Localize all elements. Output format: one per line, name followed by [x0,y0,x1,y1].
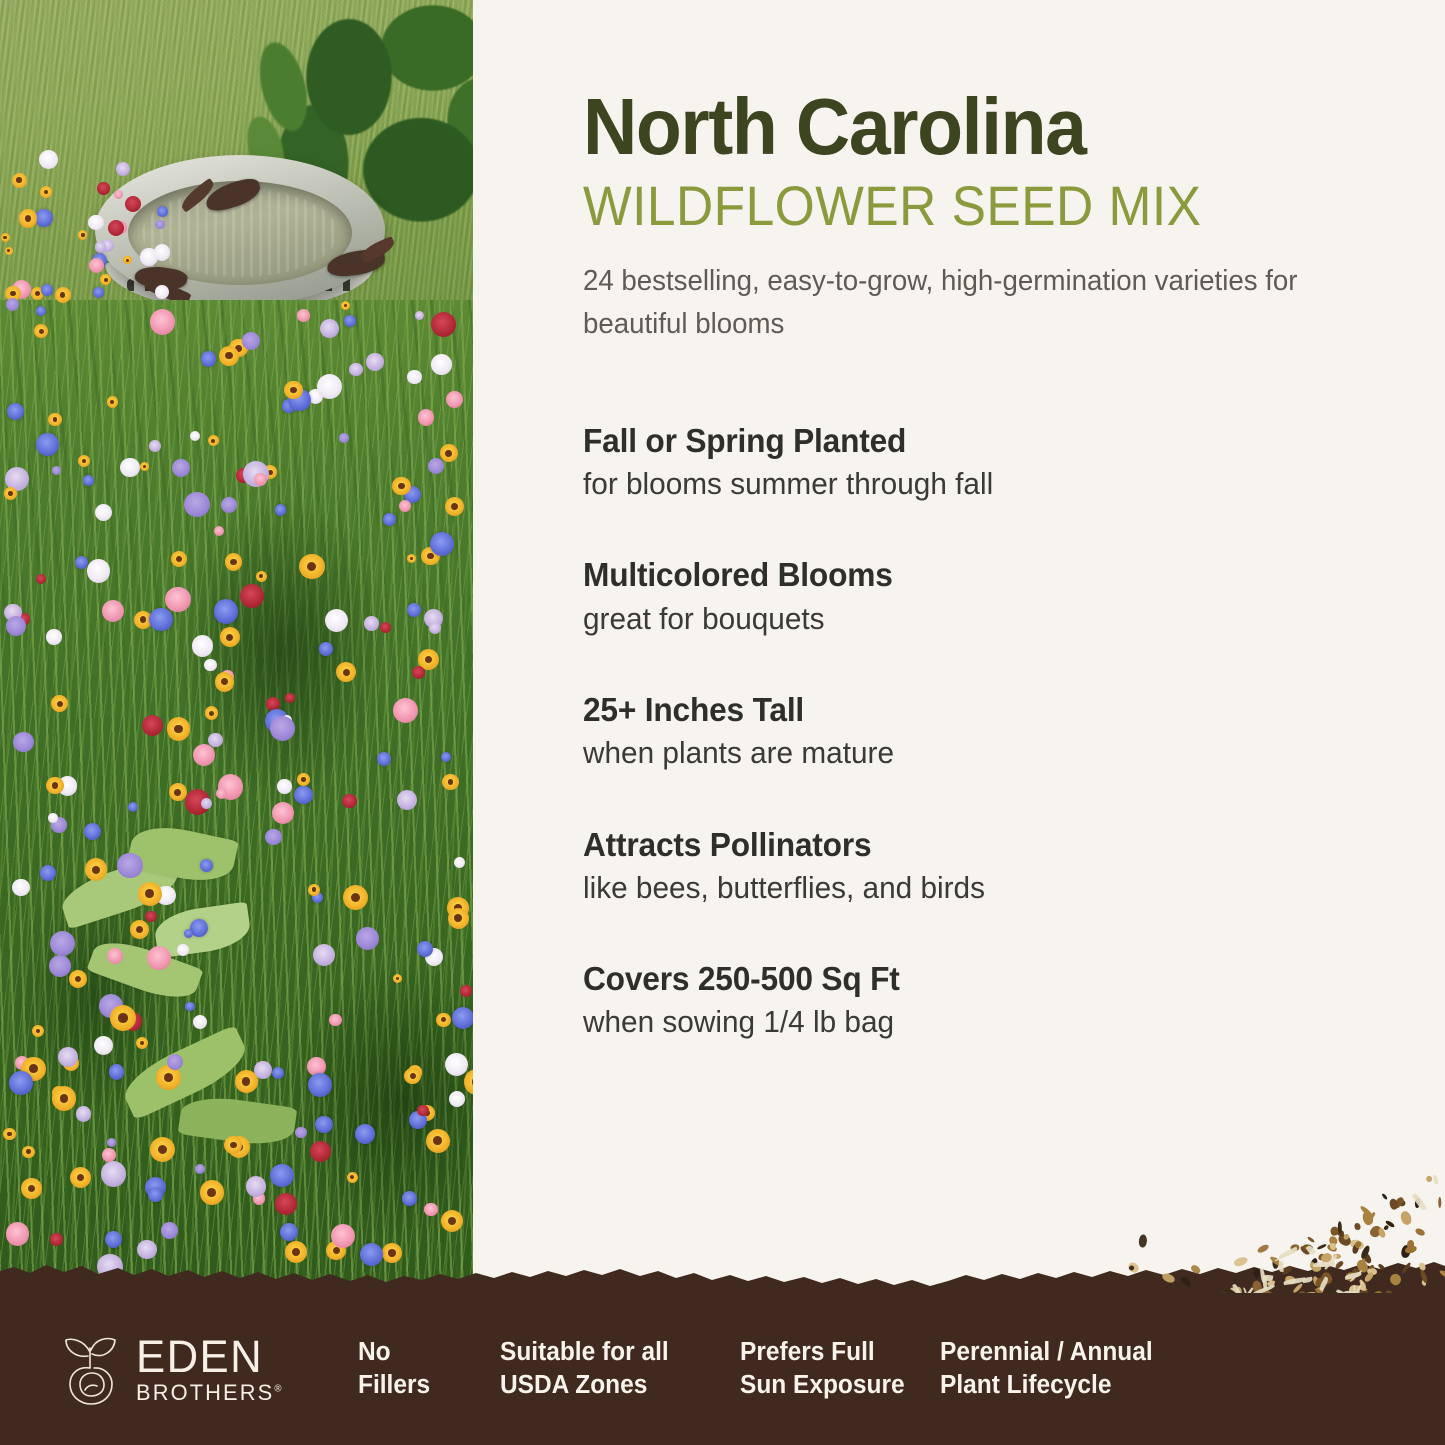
flower-bloom [5,247,13,255]
flower-bloom [84,823,101,840]
flower-bloom [22,1146,34,1158]
flower-bloom [201,351,217,367]
flower-bloom [50,1233,63,1246]
page-subtitle: WILDFLOWER SEED MIX [583,178,1289,234]
flower-bloom [138,1272,160,1294]
flower-bloom [393,974,402,983]
flower-bloom [138,882,162,906]
product-description: 24 bestselling, easy-to-grow, high-germi… [583,260,1320,346]
flower-bloom [448,908,469,929]
flower-bloom [275,504,286,515]
flower-bloom [284,381,303,400]
flower-bloom [155,220,164,229]
sprout-seedling-icon [58,1330,122,1408]
flower-bloom [172,459,190,477]
flower-bloom [85,858,108,881]
eden-brothers-logo[interactable]: EDEN BROTHERS® [58,1330,358,1408]
flower-bloom [114,190,123,199]
flower-bloom [46,629,62,645]
flower-bloom [297,773,310,786]
flower-bloom [349,363,363,377]
flower-bloom [280,1223,298,1241]
flower-bloom [429,622,441,634]
flower-bloom [366,353,384,371]
flower-bloom [165,587,190,612]
flower-bloom [242,332,260,350]
feature-heading: Multicolored Blooms [583,554,1319,595]
flower-bloom [40,865,56,881]
content-panel: North Carolina WILDFLOWER SEED MIX 24 be… [473,0,1445,1445]
flower-bloom [442,774,458,790]
flower-bloom [339,433,349,443]
flower-bloom [149,608,172,631]
flower-bloom [270,716,295,741]
badge-no-fillers: No Fillers [358,1336,494,1401]
flower-bloom [157,206,168,217]
flower-bloom [341,301,350,310]
feature-item: 25+ Inches Tall when plants are mature [583,689,1350,774]
flower-bloom [108,220,124,236]
flower-bloom [285,693,294,702]
flower-bloom [431,354,452,375]
flower-bloom [325,609,348,632]
flower-bloom [343,885,368,910]
flower-bloom [52,1086,77,1111]
flower-bloom [285,1241,307,1263]
flower-bloom [55,287,71,303]
badge-sun-exposure: Prefers Full Sun Exposure [740,1336,932,1401]
flower-bloom [192,635,214,657]
page-title: North Carolina [583,88,1304,166]
feature-item: Covers 250-500 Sq Ft when sowing 1/4 lb … [583,958,1350,1043]
feature-subtext: when sowing 1/4 lb bag [583,1002,1319,1042]
flower-bloom [319,642,333,656]
flower-bloom [101,1161,126,1186]
flower-bloom [58,1047,78,1067]
flower-bloom [154,244,171,261]
badge-plant-lifecycle: Perennial / Annual Plant Lifecycle [940,1336,1209,1401]
flower-bloom [150,1137,176,1163]
flower-bloom [4,487,17,500]
flower-bloom [270,1164,293,1187]
flower-bloom [215,672,235,692]
flower-bloom [208,733,222,747]
flower-bloom [308,884,320,896]
flower-bloom [407,603,421,617]
flower-bloom [97,182,110,195]
flower-bloom [342,794,357,809]
wildflower-meadow-photo [0,0,473,1300]
feature-heading: Fall or Spring Planted [583,420,1319,461]
feature-item: Attracts Pollinators like bees, butterfl… [583,824,1350,909]
feature-subtext: for blooms summer through fall [583,464,1319,504]
flower-bloom [393,698,418,723]
flower-bloom [107,396,119,408]
flower-bloom [254,1061,272,1079]
flower-bloom [185,1002,194,1011]
flower-bloom [277,779,291,793]
flower-bloom [167,717,190,740]
flower-bloom [355,1124,375,1144]
flower-bloom [3,1128,16,1141]
flower-bloom [69,970,87,988]
flower-bloom [315,1116,333,1134]
flower-bloom [205,706,219,720]
footer-badges: No Fillers Suitable for all USDA Zones P… [358,1336,1445,1401]
flower-bloom [417,941,433,957]
flower-bloom [40,186,52,198]
flower-bloom [48,813,58,823]
flower-bloom [1,233,10,242]
flower-bloom [216,788,227,799]
flower-bloom [35,209,53,227]
flower-bloom [7,403,24,420]
feature-list: Fall or Spring Planted for blooms summer… [583,420,1350,1043]
flower-bloom [344,315,356,327]
flower-bloom [105,1231,122,1248]
flower-bloom [120,458,140,478]
flower-bloom [214,599,239,624]
logo-wordmark: EDEN BROTHERS® [136,1334,286,1405]
flower-bloom [36,306,46,316]
flower-bloom [9,1071,33,1095]
flower-bloom [46,777,64,795]
logo-line-brothers: BROTHERS® [136,1382,282,1405]
flower-bloom [97,1254,122,1279]
flower-bloom [19,209,38,228]
flower-bloom [430,532,454,556]
flower-bloom [193,1015,207,1029]
flower-bloom [246,1176,267,1197]
flower-bloom [102,1148,116,1162]
flower-bloom [117,853,143,879]
flower-bloom [454,857,465,868]
flower-bloom [308,1073,332,1097]
flower-bloom [295,1127,307,1139]
flower-bloom [48,413,62,427]
flower-bloom [21,1178,41,1198]
flower-bloom [95,504,112,521]
flower-bloom [13,732,34,753]
flower-bloom [78,230,87,239]
flower-bloom [297,309,310,322]
flower-bloom [142,715,163,736]
logo-line-eden: EDEN [136,1334,282,1379]
feature-heading: 25+ Inches Tall [583,689,1319,730]
flower-bloom [399,500,411,512]
flower-bloom [452,1007,473,1030]
flower-bloom [102,600,124,622]
flower-bloom [109,1064,125,1080]
flower-bloom [161,1222,178,1239]
flower-bloom [331,1224,355,1248]
flower-bloom [70,1167,91,1188]
feature-heading: Covers 250-500 Sq Ft [583,958,1319,999]
flower-bloom [460,985,472,997]
flower-bloom [265,829,282,846]
flower-bloom [313,944,335,966]
flower-bloom [6,1222,29,1245]
flower-bloom [184,492,210,518]
flower-bloom [424,1203,437,1216]
flower-bloom [32,1025,44,1037]
flower-bloom [445,497,464,516]
product-infographic-card: North Carolina WILDFLOWER SEED MIX 24 be… [0,0,1445,1445]
flower-bloom [299,554,325,580]
badge-usda-zones: Suitable for all USDA Zones [500,1336,730,1401]
flower-bloom [125,196,141,212]
flower-bloom [294,786,312,804]
flower-bloom [95,241,107,253]
feature-heading: Attracts Pollinators [583,824,1319,865]
feature-subtext: when plants are mature [583,733,1319,773]
flower-bloom [148,1188,163,1203]
flower-bloom [256,571,268,583]
flower-bloom [446,391,463,408]
flower-bloom [402,1191,417,1206]
flower-bloom [200,1180,224,1204]
flower-bloom [347,1172,358,1183]
flower-bloom [364,616,379,631]
flower-bloom [12,879,30,897]
flower-bloom [272,1067,284,1079]
flower-bloom [436,1013,451,1028]
flower-bloom [110,1005,136,1031]
flower-bloom [356,927,379,950]
feature-item: Fall or Spring Planted for blooms summer… [583,420,1350,505]
flower-bloom [220,627,240,647]
flower-bloom [426,1129,450,1153]
registered-mark: ® [274,1383,281,1394]
flower-bloom [383,513,396,526]
flower-bloom [93,287,104,298]
flower-bloom [52,466,61,475]
feature-subtext: great for bouquets [583,599,1319,639]
flower-bloom [36,433,59,456]
feature-item: Multicolored Blooms great for bouquets [583,554,1350,639]
flower-bloom [12,173,27,188]
flower-bloom [441,752,451,762]
flower-bloom [36,574,46,584]
feature-subtext: like bees, butterflies, and birds [583,868,1319,908]
footer-bar: EDEN BROTHERS® No Fillers Suitable for a… [0,1293,1445,1445]
flower-bloom [83,475,94,486]
flower-bloom [219,346,239,366]
flower-bloom [116,162,130,176]
flower-bloom [50,931,75,956]
flower-bloom [275,1193,297,1215]
